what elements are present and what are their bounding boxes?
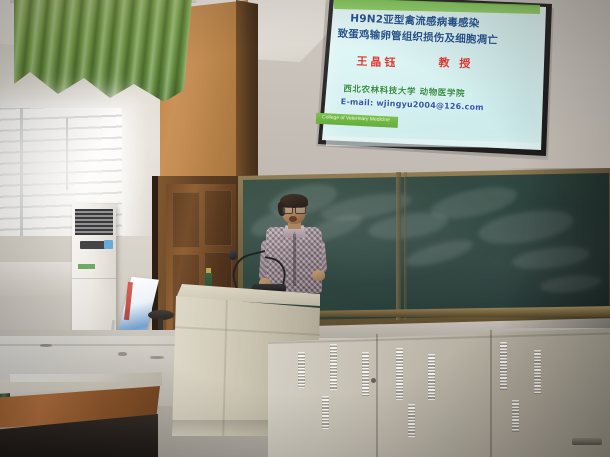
chalkboard-divider bbox=[396, 172, 401, 320]
floor-debris bbox=[150, 356, 164, 359]
slide-content: H9N2亚型禽流感病毒感染 致蛋鸡输卵管组织损伤及细胞凋亡 王晶钰 教 授 西北… bbox=[319, 0, 549, 155]
chalkboard-divider bbox=[404, 172, 407, 320]
air-conditioner-badge bbox=[104, 240, 113, 249]
chalkboard-shadow bbox=[500, 168, 610, 328]
door-panel bbox=[204, 190, 232, 246]
glasses-bridge bbox=[282, 206, 305, 213]
slide-presenter-rank: 教 授 bbox=[438, 54, 473, 71]
cabinet-door-seam bbox=[376, 334, 378, 457]
air-conditioner-logo bbox=[78, 264, 95, 269]
cabinet-vent bbox=[408, 404, 415, 438]
cabinet-vent bbox=[330, 344, 337, 390]
presenter-mouth bbox=[289, 216, 297, 222]
floor-debris bbox=[118, 352, 127, 356]
slide-affiliation: 西北农林科技大学 动物医学院 bbox=[343, 82, 465, 99]
presenter-shirt-placket bbox=[293, 234, 296, 286]
cabinet-handle bbox=[371, 378, 376, 383]
cabinet-vent bbox=[428, 354, 435, 400]
cabinet-vent bbox=[298, 352, 305, 388]
cabinet-vent bbox=[396, 348, 403, 400]
cabinet-vent bbox=[512, 400, 519, 432]
bottle-cap bbox=[206, 268, 211, 273]
metal-cabinet bbox=[268, 328, 610, 457]
floor-debris bbox=[40, 344, 52, 347]
lecture-hall-photo: H9N2亚型禽流感病毒感染 致蛋鸡输卵管组织损伤及细胞凋亡 王晶钰 教 授 西北… bbox=[0, 0, 610, 457]
presenter-right-hand bbox=[312, 270, 325, 281]
door-panel bbox=[172, 192, 200, 248]
air-conditioner-grille bbox=[75, 209, 113, 235]
cabinet-foot bbox=[572, 438, 602, 445]
radiator bbox=[0, 262, 82, 296]
microphone-icon bbox=[229, 250, 237, 260]
cabinet-vent bbox=[362, 352, 369, 396]
air-conditioner-seam bbox=[72, 278, 116, 279]
cabinet-vent bbox=[322, 396, 329, 430]
slide-email: E-mail: wjingyu2004@126.com bbox=[341, 97, 484, 112]
cabinet-door-seam bbox=[490, 330, 492, 457]
cabinet-vent bbox=[500, 342, 507, 390]
slide-presenter-name: 王晶钰 bbox=[356, 53, 399, 71]
cabinet-vent bbox=[534, 350, 541, 394]
desk-highlight bbox=[10, 374, 130, 382]
